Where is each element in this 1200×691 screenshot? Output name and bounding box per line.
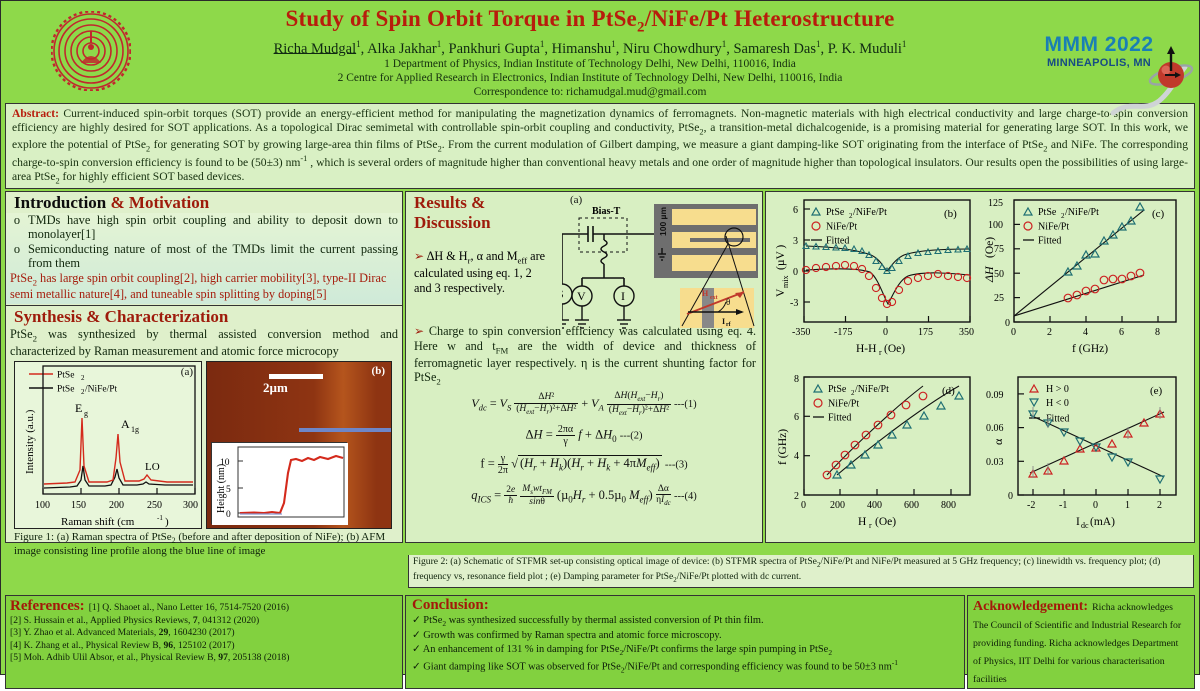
svg-text:Fitted: Fitted <box>828 413 851 424</box>
poster-footer: References: [1] Q. Shaoet al., Nano Lett… <box>1 595 1199 691</box>
conclusion-heading: Conclusion: <box>412 597 958 614</box>
svg-text:100 µm: 100 µm <box>658 207 668 236</box>
svg-text:8: 8 <box>1155 327 1160 338</box>
svg-text:0: 0 <box>801 500 806 511</box>
equation-1-number: ---(1) <box>674 399 697 410</box>
introduction-highlight: PtSe2 has large spin orbit coupling[2], … <box>10 271 398 302</box>
svg-text:300: 300 <box>183 500 198 511</box>
svg-text:mix: mix <box>781 276 790 288</box>
svg-text:H: H <box>702 289 709 298</box>
svg-text:PtSe: PtSe <box>826 207 845 218</box>
svg-text:800: 800 <box>941 500 956 511</box>
svg-text:8: 8 <box>794 374 799 385</box>
svg-text:PtSe: PtSe <box>57 384 74 394</box>
svg-text:I: I <box>621 289 625 303</box>
svg-text:/NiFe/Pt: /NiFe/Pt <box>85 384 118 394</box>
svg-text:2: 2 <box>794 491 799 502</box>
svg-text:4: 4 <box>794 451 799 462</box>
svg-text:2: 2 <box>1157 500 1162 511</box>
figure1-caption: Figure 1: (a) Raman spectra of PtSe2 (be… <box>6 529 402 559</box>
references-heading: References: <box>10 598 85 615</box>
svg-text:): ) <box>165 516 169 528</box>
acknowledgement-text: Richa acknowledges The Council of Scient… <box>973 602 1181 685</box>
reference-item: [1] Q. Shaoet al., Nano Letter 16, 7514-… <box>89 602 289 613</box>
svg-text:Intensity (a.u.): Intensity (a.u.) <box>24 409 36 474</box>
svg-text:/NiFe/Pt: /NiFe/Pt <box>855 384 889 395</box>
svg-text:250: 250 <box>147 500 162 511</box>
mmm-spin-logo-icon <box>1109 41 1195 124</box>
svg-text:f (GHz): f (GHz) <box>1072 343 1108 355</box>
svg-text:0: 0 <box>1008 491 1013 502</box>
svg-text:0: 0 <box>1005 318 1010 329</box>
svg-text:2: 2 <box>1047 327 1052 338</box>
svg-text:Fitted: Fitted <box>1038 236 1061 247</box>
equation-3-number: ---(3) <box>665 459 688 470</box>
svg-text:200: 200 <box>830 500 845 511</box>
equation-2-number: ---(2) <box>620 430 643 441</box>
afm-image-panel: (b) 2µm 0 <box>206 361 392 529</box>
equation-2: ΔH = 2πα γ f + ΔH0 ---(2) <box>406 424 762 447</box>
abstract-text: Abstract: Current-induced spin-orbit tor… <box>12 107 1188 186</box>
chart-linewidth-vs-frequency: 0 25 50 75 100 125 0 2 4 6 8 f (GHz) ΔH … <box>980 192 1194 367</box>
svg-text:NiFe/Pt: NiFe/Pt <box>826 222 857 233</box>
svg-text:0.03: 0.03 <box>986 457 1004 468</box>
svg-text:NiFe/Pt: NiFe/Pt <box>828 399 859 410</box>
panel-label-c: (c) <box>1152 208 1165 220</box>
figure2-caption-strip: Figure 2: (a) Schematic of STFMR set-up … <box>408 555 1194 588</box>
chart-d-svg: 2 4 6 8 0 200 400 600 800 H r (Oe) f (GH… <box>766 367 980 547</box>
svg-text:0: 0 <box>1093 500 1098 511</box>
svg-text:(µV ): (µV ) <box>775 245 787 270</box>
iit-delhi-seal-icon <box>51 11 131 91</box>
svg-text:-175: -175 <box>834 327 852 338</box>
reference-item: [3] Y. Zhao et al. Advanced Materials, 2… <box>10 627 398 639</box>
results-heading: Results & Discussion <box>406 192 562 233</box>
arrow-bullet-icon: ➢ <box>414 324 424 338</box>
svg-text:E: E <box>75 401 82 415</box>
list-item: ✓ Giant damping like SOT was observed fo… <box>412 658 958 675</box>
svg-text:600: 600 <box>904 500 919 511</box>
figure2-caption: Figure 2: (a) Schematic of STFMR set-up … <box>408 555 1194 588</box>
reference-item: [5] Moh. Adhib Ulil Absor, et al., Physi… <box>10 652 398 664</box>
svg-text:25: 25 <box>994 293 1004 304</box>
svg-text:PtSe: PtSe <box>1038 207 1057 218</box>
svg-text:α: α <box>991 438 1005 445</box>
results-bullet-1: ΔH & Hr, α and Meff are calculated using… <box>414 249 545 295</box>
list-item: ✓ An enhancement of 131 % in damping for… <box>412 643 958 658</box>
chart-frequency-vs-field: 2 4 6 8 0 200 400 600 800 H r (Oe) f (GH… <box>766 367 980 552</box>
introduction-heading: Introduction & Motivation <box>6 192 402 213</box>
bullet-circle-icon: o <box>12 213 22 242</box>
svg-text:0.09: 0.09 <box>986 390 1004 401</box>
charts-grid: -3 0 3 6 -350 -175 0 175 350 H-H r (Oe) … <box>766 192 1194 542</box>
afm-line-profile-marker <box>299 428 392 432</box>
svg-text:Fitted: Fitted <box>826 236 849 247</box>
stfmr-schematic-svg: 100 µm <box>562 192 762 342</box>
list-item: ✓ Growth was confirmed by Raman spectra … <box>412 629 958 643</box>
introduction-bullet-1: TMDs have high spin orbit coupling and a… <box>28 213 398 242</box>
raman-spectra-chart: (a) PtSe 2 PtSe 2 /NiFe/Pt <box>14 361 202 529</box>
equation-4-number: ---(4) <box>674 491 697 502</box>
svg-text:dc: dc <box>1081 521 1089 530</box>
svg-text:0: 0 <box>883 327 888 338</box>
synthesis-heading: Synthesis & Characterization <box>6 306 402 327</box>
stfmr-schematic: (a) 100 µm <box>562 192 762 322</box>
svg-text:A: A <box>121 417 130 431</box>
svg-text:0.06: 0.06 <box>986 423 1004 434</box>
svg-text:(Oe): (Oe) <box>884 343 905 355</box>
svg-text:3: 3 <box>793 236 798 247</box>
raman-plot-svg: PtSe 2 PtSe 2 /NiFe/Pt <box>15 362 203 530</box>
svg-text:ΔH: ΔH <box>982 265 996 283</box>
panel-label-b: (b) <box>944 208 957 220</box>
svg-text:r: r <box>879 348 882 357</box>
svg-text:f (GHz): f (GHz) <box>777 429 789 465</box>
results-column: Results & Discussion ➢ ΔH & Hr, α and Me… <box>405 191 763 543</box>
panel-label-b: (b) <box>372 365 385 377</box>
introduction-bullet-2: Semiconducting nature of most of the TMD… <box>28 242 398 271</box>
svg-text:6: 6 <box>794 412 799 423</box>
chart-damping-vs-current: 0 0.03 0.06 0.09 -2 -1 0 1 2 I dc (mA) α <box>980 367 1194 552</box>
svg-text:V: V <box>775 288 787 297</box>
list-item: o Semiconducting nature of most of the T… <box>12 242 398 271</box>
chart-e-svg: 0 0.03 0.06 0.09 -2 -1 0 1 2 I dc (mA) α <box>980 367 1194 547</box>
svg-text:(Oe): (Oe) <box>984 237 996 258</box>
svg-text:H: H <box>858 516 866 528</box>
svg-text:Height (nm): Height (nm) <box>216 464 227 513</box>
svg-text:400: 400 <box>867 500 882 511</box>
svg-text:/NiFe/Pt: /NiFe/Pt <box>1065 207 1099 218</box>
svg-text:Bias-T: Bias-T <box>592 206 621 217</box>
svg-text:I: I <box>1076 516 1080 528</box>
panel-label-a-schematic: (a) <box>570 194 582 206</box>
synthesis-text: PtSe2 was synthesized by thermal assiste… <box>10 327 398 359</box>
svg-text:g: g <box>84 409 88 418</box>
svg-text:0: 0 <box>1011 327 1016 338</box>
results-top: Results & Discussion ➢ ΔH & Hr, α and Me… <box>406 192 762 322</box>
chart-c-svg: 0 25 50 75 100 125 0 2 4 6 8 f (GHz) ΔH … <box>980 192 1194 362</box>
svg-text:0: 0 <box>793 267 798 278</box>
svg-text:2: 2 <box>81 374 85 382</box>
svg-text:r: r <box>869 521 872 530</box>
svg-text:125: 125 <box>988 198 1003 209</box>
page-title: Study of Spin Orbit Torque in PtSe2/NiFe… <box>181 7 999 36</box>
poster-root: Study of Spin Orbit Torque in PtSe2/NiFe… <box>0 0 1200 675</box>
svg-text:1: 1 <box>1125 500 1130 511</box>
svg-text:Fitted: Fitted <box>1046 414 1069 425</box>
svg-text:H-H: H-H <box>856 343 876 355</box>
svg-text:175: 175 <box>918 327 933 338</box>
svg-text:V: V <box>577 289 586 303</box>
svg-text:θ: θ <box>726 297 730 307</box>
poster-body: Introduction & Motivation o TMDs have hi… <box>1 191 1199 543</box>
height-profile-svg: 0 5 10 Height (nm) <box>212 443 348 525</box>
chart-b-svg: -3 0 3 6 -350 -175 0 175 350 H-H r (Oe) … <box>766 192 980 362</box>
svg-text:200: 200 <box>109 500 124 511</box>
introduction-body: o TMDs have high spin orbit coupling and… <box>6 213 402 304</box>
conference-logo-block: MMM 2022 MINNEAPOLIS, MN <box>999 33 1199 69</box>
afm-scalebar <box>269 374 323 379</box>
svg-text:H < 0: H < 0 <box>1046 398 1069 409</box>
arrow-bullet-icon: ➢ <box>414 249 424 263</box>
abstract-label: Abstract: <box>12 107 59 120</box>
introduction-heading-red: & Motivation <box>111 193 210 212</box>
svg-text:6: 6 <box>1119 327 1124 338</box>
results-bullet-1-block: ➢ ΔH & Hr, α and Meff are calculated usi… <box>406 233 556 295</box>
svg-text:-2: -2 <box>1027 500 1035 511</box>
synthesis-body: PtSe2 was synthesized by thermal assiste… <box>6 327 402 359</box>
svg-text:-350: -350 <box>792 327 810 338</box>
svg-text:150: 150 <box>71 500 86 511</box>
synthesis-heading-text: Synthesis & Characterization <box>14 307 228 326</box>
chart-stfmr-spectra: -3 0 3 6 -350 -175 0 175 350 H-H r (Oe) … <box>766 192 980 367</box>
abstract-section: Abstract: Current-induced spin-orbit tor… <box>5 103 1195 189</box>
equation-4: qICS = 2e ħ MswtFM sinθ (µ0Hr + 0.5µ0 Me… <box>406 484 762 508</box>
svg-text:PtSe: PtSe <box>828 384 847 395</box>
reference-item: [2] S. Hussain et al., Applied Physics R… <box>10 615 398 627</box>
svg-text:LO: LO <box>145 461 160 473</box>
afm-scalebar-label: 2µm <box>263 380 288 396</box>
svg-text:I: I <box>722 317 725 326</box>
figure1-row: (a) PtSe 2 PtSe 2 /NiFe/Pt <box>6 359 402 529</box>
affiliation-1: 1 Department of Physics, Indian Institut… <box>181 57 999 71</box>
list-item: ✓ PtSe2 was synthesized successfully by … <box>412 614 958 629</box>
svg-text:PtSe: PtSe <box>57 370 74 380</box>
svg-text:S: S <box>562 287 564 301</box>
svg-text:(mA): (mA) <box>1090 516 1115 528</box>
bullet-circle-icon: o <box>12 242 22 271</box>
poster-header: Study of Spin Orbit Torque in PtSe2/NiFe… <box>1 1 1199 101</box>
correspondence-line: Correspondence to: richamudgal.mud@gmail… <box>181 85 999 99</box>
introduction-heading-black: Introduction <box>14 193 106 212</box>
svg-text:100: 100 <box>988 220 1003 231</box>
svg-text:-3: -3 <box>790 298 798 309</box>
svg-text:100: 100 <box>35 500 50 511</box>
svg-text:ext: ext <box>710 295 718 301</box>
reference-item: [4] K. Zhang et al., Physical Review B, … <box>10 640 398 652</box>
left-column: Introduction & Motivation o TMDs have hi… <box>5 191 403 543</box>
acknowledgement-heading: Acknowledgement: <box>973 599 1088 614</box>
panel-label-e: (e) <box>1150 385 1163 397</box>
panel-label-d: (d) <box>942 385 955 397</box>
author-list: Richa Mudgal1, Alka Jakhar1, Pankhuri Gu… <box>181 39 999 57</box>
svg-text:H > 0: H > 0 <box>1046 384 1069 395</box>
list-item: o TMDs have high spin orbit coupling and… <box>12 213 398 242</box>
svg-text:6: 6 <box>793 205 798 216</box>
svg-text:1g: 1g <box>131 425 139 434</box>
svg-text:4: 4 <box>1083 327 1088 338</box>
svg-text:/NiFe/Pt: /NiFe/Pt <box>853 207 887 218</box>
svg-text:Raman shift (cm: Raman shift (cm <box>61 516 135 528</box>
svg-text:-1: -1 <box>1059 500 1067 511</box>
equation-1: Vdc = VS ΔH² (Hext−Hr)²+ΔH² + VA ΔH(Hext… <box>406 391 762 418</box>
institute-logo-container <box>1 11 181 91</box>
svg-text:-1: -1 <box>157 514 163 522</box>
charts-column: -3 0 3 6 -350 -175 0 175 350 H-H r (Oe) … <box>765 191 1195 543</box>
afm-line-profile-inset: 0 5 10 Height (nm) <box>211 442 347 524</box>
affiliation-2: 2 Centre for Applied Research in Electro… <box>181 71 999 85</box>
svg-text:350: 350 <box>959 327 974 338</box>
svg-text:NiFe/Pt: NiFe/Pt <box>1038 222 1069 233</box>
svg-text:(Oe): (Oe) <box>875 516 896 528</box>
header-text-block: Study of Spin Orbit Torque in PtSe2/NiFe… <box>181 3 999 98</box>
results-heading-text: Results & Discussion <box>414 193 491 232</box>
equation-3: f = γ 2π √(Hr + Hk)(Hr + Hk + 4πMeff) --… <box>406 453 762 476</box>
